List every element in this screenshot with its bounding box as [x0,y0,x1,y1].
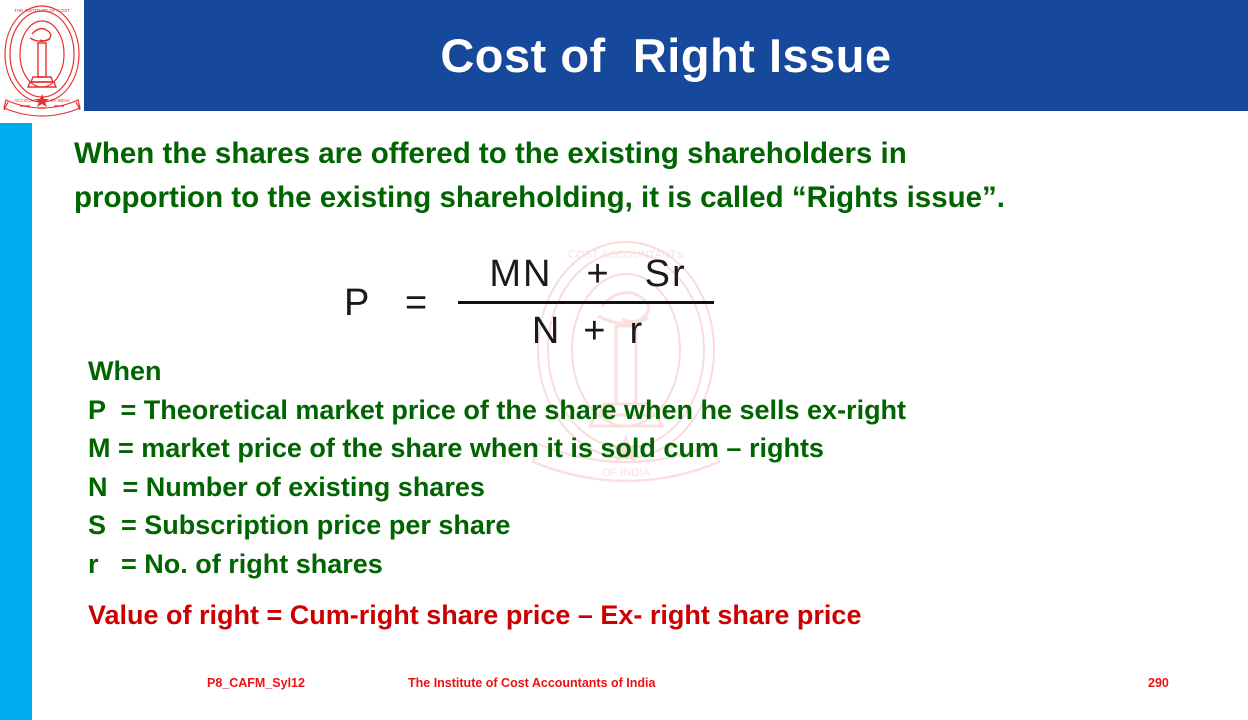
formula-numerator-right: Sr [645,253,687,295]
formula-block: P = MN+Sr N+r [340,248,760,358]
definition-item: M = market price of the share when it is… [88,429,1148,468]
formula-denominator-operator: + [583,310,607,352]
formula-denominator-left: N [532,310,561,352]
definition-item: N = Number of existing shares [88,468,1148,507]
footer-page-number: 290 [1148,676,1169,690]
presentation-slide: Cost of Right Issue THE INSTITUTE OF COS… [0,0,1248,720]
intro-line-1: When the shares are offered to the exist… [74,132,1206,176]
page-title: Cost of Right Issue [84,0,1248,111]
svg-text:THE INSTITUTE OF COST: THE INSTITUTE OF COST [14,8,70,13]
definitions-heading: When [88,352,1148,391]
intro-line-2: proportion to the existing shareholding,… [74,176,1206,220]
slide-footer: P8_CAFM_Syl12 The Institute of Cost Acco… [0,676,1248,700]
formula-fraction-bar [458,301,714,304]
definitions-block: When P = Theoretical market price of the… [88,352,1148,583]
left-accent-strip [0,123,32,720]
formula-denominator: N+r [458,306,718,356]
formula-equals-sign: = [405,282,427,325]
formula-fraction: MN+Sr N+r [458,248,718,356]
institute-logo-icon: THE INSTITUTE OF COST ACCOUNTANTS OF IND… [2,2,82,120]
formula-denominator-right: r [630,310,645,352]
formula-numerator-left: MN [489,253,552,295]
definition-item: P = Theoretical market price of the shar… [88,391,1148,430]
formula-numerator: MN+Sr [458,248,718,300]
value-of-right-statement: Value of right = Cum-right share price –… [88,600,861,631]
title-banner: Cost of Right Issue [84,0,1248,111]
definition-item: S = Subscription price per share [88,506,1148,545]
intro-paragraph: When the shares are offered to the exist… [74,132,1206,220]
footer-paper-code: P8_CAFM_Syl12 [207,676,305,690]
footer-institute-name: The Institute of Cost Accountants of Ind… [408,676,655,690]
definition-item: r = No. of right shares [88,545,1148,584]
formula-numerator-operator: + [586,253,610,295]
formula-lhs: P [344,282,370,325]
